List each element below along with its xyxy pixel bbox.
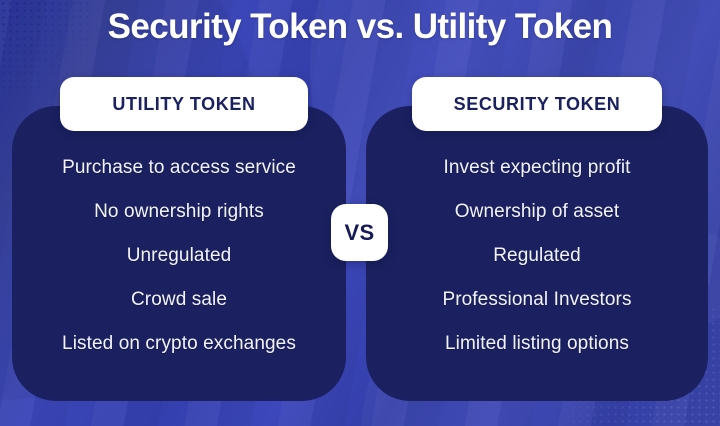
list-item: Limited listing options — [445, 332, 629, 356]
utility-token-item-list: Purchase to access service No ownership … — [12, 156, 346, 356]
security-token-badge-label: SECURITY TOKEN — [454, 94, 621, 115]
security-token-panel: Invest expecting profit Ownership of ass… — [366, 106, 708, 401]
utility-token-badge: UTILITY TOKEN — [60, 77, 308, 131]
infographic-canvas: Security Token vs. Utility Token Purchas… — [0, 0, 720, 426]
vs-label: VS — [345, 220, 375, 246]
list-item: No ownership rights — [94, 200, 264, 224]
list-item: Purchase to access service — [62, 156, 296, 180]
utility-token-badge-label: UTILITY TOKEN — [112, 94, 255, 115]
list-item: Professional Investors — [442, 288, 631, 312]
vs-badge: VS — [331, 204, 388, 261]
list-item: Unregulated — [127, 244, 232, 268]
list-item: Listed on crypto exchanges — [62, 332, 296, 356]
utility-token-panel: Purchase to access service No ownership … — [12, 106, 346, 401]
list-item: Ownership of asset — [455, 200, 619, 224]
security-token-badge: SECURITY TOKEN — [412, 77, 662, 131]
list-item: Regulated — [493, 244, 581, 268]
list-item: Crowd sale — [131, 288, 227, 312]
page-title: Security Token vs. Utility Token — [0, 6, 720, 48]
security-token-item-list: Invest expecting profit Ownership of ass… — [366, 156, 708, 356]
list-item: Invest expecting profit — [443, 156, 630, 180]
